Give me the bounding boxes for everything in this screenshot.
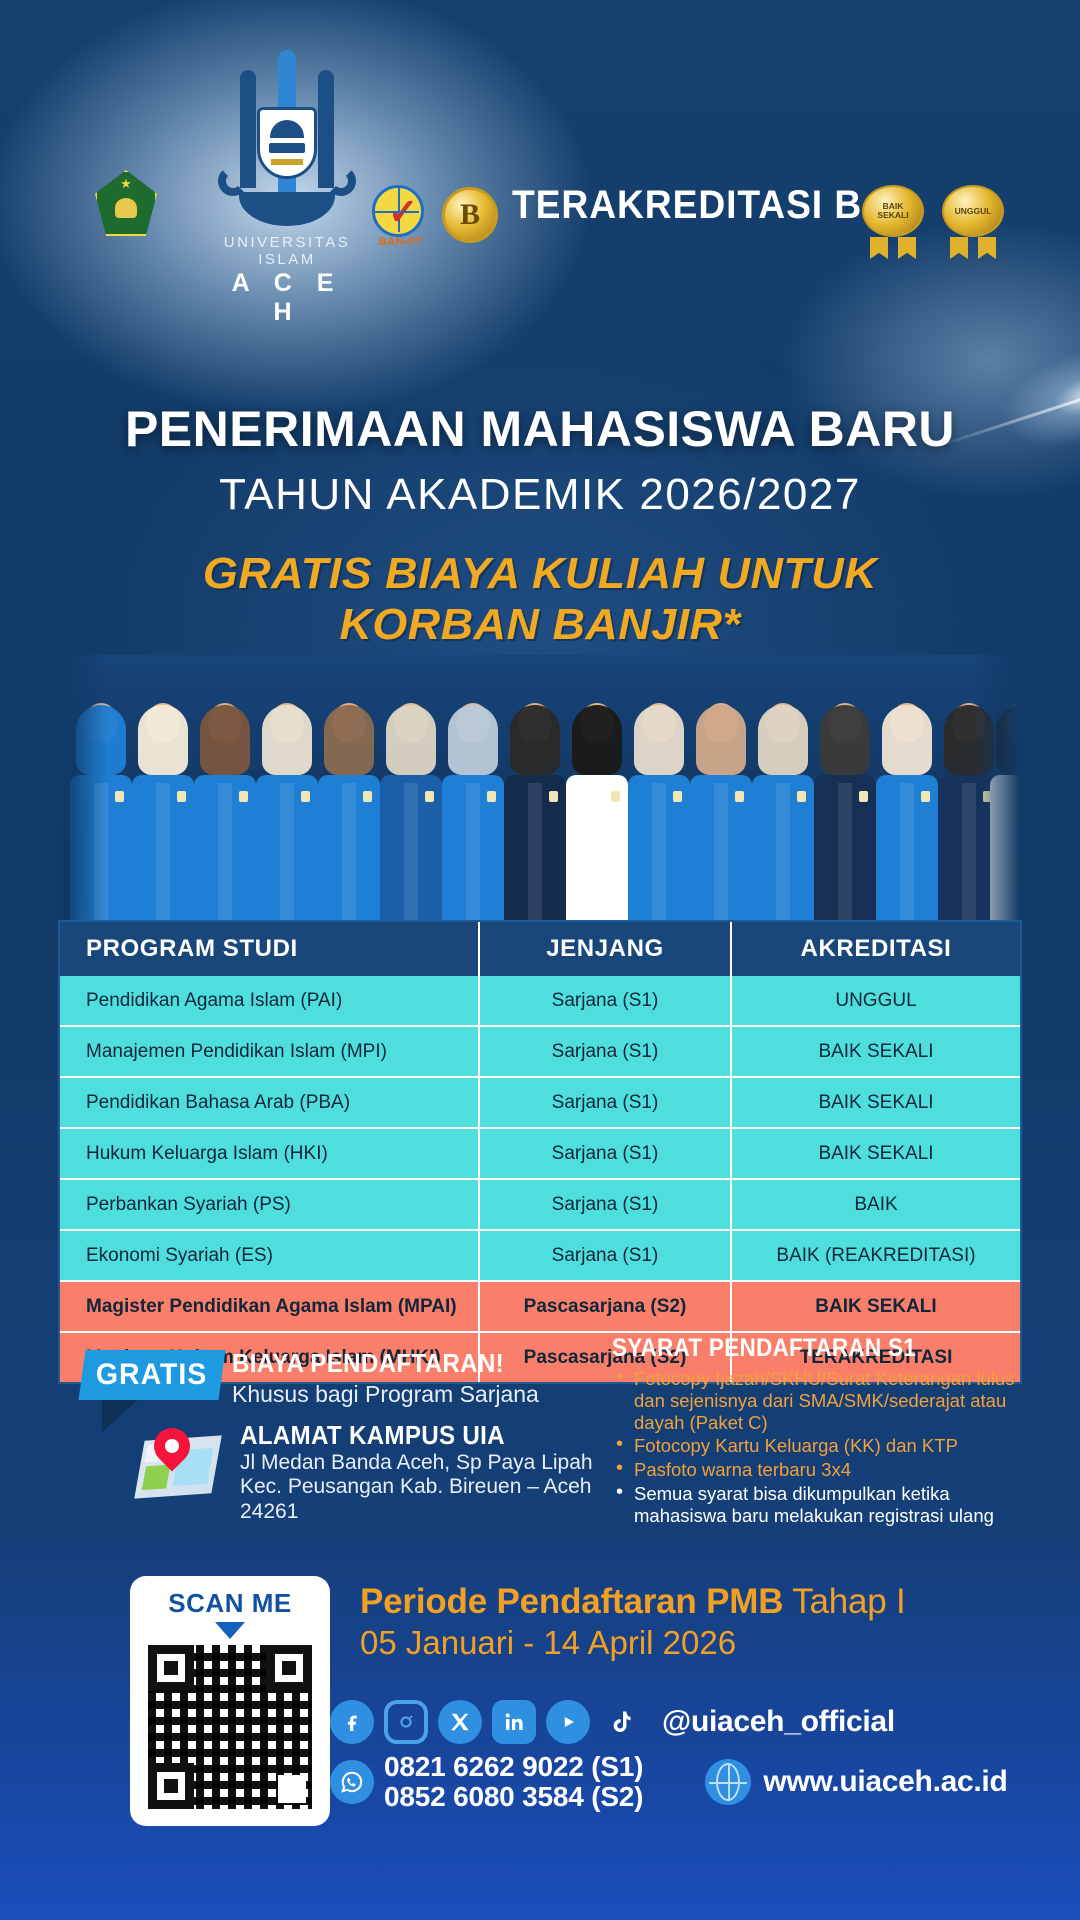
cell-akreditasi: UNGGUL bbox=[732, 976, 1020, 1025]
university-short-name: A C E H bbox=[212, 269, 362, 327]
map-pin-icon bbox=[140, 1438, 216, 1496]
table-row: Manajemen Pendidikan Islam (MPI)Sarjana … bbox=[60, 1027, 1020, 1078]
periode-tahap: Tahap I bbox=[783, 1582, 905, 1621]
globe-icon bbox=[705, 1759, 751, 1805]
cell-program: Pendidikan Agama Islam (PAI) bbox=[60, 976, 480, 1025]
requirements-title: SYARAT PENDAFTARAN S1 bbox=[612, 1334, 999, 1363]
promo-line-1: GRATIS BIAYA KULIAH UNTUK bbox=[0, 548, 1080, 599]
tiktok-icon[interactable] bbox=[600, 1700, 644, 1744]
requirement-item: Fotocopy Ijazah/SKHU/Surat Keterangan lu… bbox=[612, 1368, 1042, 1433]
student-figure bbox=[752, 703, 814, 925]
gratis-badge: GRATIS bbox=[82, 1350, 222, 1400]
youtube-icon[interactable] bbox=[546, 1700, 590, 1744]
cell-jenjang: Sarjana (S1) bbox=[480, 976, 732, 1025]
table-row: Ekonomi Syariah (ES)Sarjana (S1)BAIK (RE… bbox=[60, 1231, 1020, 1282]
promo-line-2: KORBAN BANJIR* bbox=[0, 599, 1080, 650]
student-figure bbox=[690, 703, 752, 925]
website-row[interactable]: www.uiaceh.ac.id bbox=[705, 1759, 1007, 1805]
cell-program: Manajemen Pendidikan Islam (MPI) bbox=[60, 1027, 480, 1076]
program-studi-table: PROGRAM STUDI JENJANG AKREDITASI Pendidi… bbox=[58, 920, 1022, 1384]
address-line-3: 24261 bbox=[240, 1500, 593, 1524]
instagram-icon[interactable] bbox=[384, 1700, 428, 1744]
student-figure bbox=[380, 703, 442, 925]
cell-jenjang: Sarjana (S1) bbox=[480, 1129, 732, 1178]
accreditation-headline: TERAKREDITASI B bbox=[512, 183, 862, 228]
linkedin-icon[interactable] bbox=[492, 1700, 536, 1744]
cell-akreditasi: BAIK SEKALI bbox=[732, 1078, 1020, 1127]
cell-akreditasi: BAIK SEKALI bbox=[732, 1129, 1020, 1178]
x-twitter-icon[interactable] bbox=[438, 1700, 482, 1744]
registration-period-block: Periode Pendaftaran PMB Tahap I 05 Janua… bbox=[360, 1582, 906, 1662]
triangle-down-icon bbox=[215, 1622, 245, 1639]
uia-logo-icon: UNIVERSITAS ISLAM A C E H bbox=[212, 65, 362, 327]
requirements-block: SYARAT PENDAFTARAN S1 Fotocopy Ijazah/SK… bbox=[612, 1334, 1042, 1529]
facebook-icon[interactable] bbox=[330, 1700, 374, 1744]
page-title: PENERIMAAN MAHASISWA BARU bbox=[0, 400, 1080, 458]
contact-block: @uiaceh_official 0821 6262 9022 (S1) 085… bbox=[330, 1700, 1007, 1812]
cell-jenjang: Sarjana (S1) bbox=[480, 1027, 732, 1076]
student-figure bbox=[566, 703, 628, 925]
campus-address-block: ALAMAT KAMPUS UIA Jl Medan Banda Aceh, S… bbox=[130, 1420, 593, 1524]
requirement-item: Pasfoto warna terbaru 3x4 bbox=[612, 1459, 1042, 1481]
cell-jenjang: Pascasarjana (S2) bbox=[480, 1282, 732, 1331]
qr-code-card[interactable]: SCAN ME bbox=[130, 1576, 330, 1826]
banpt-label: BAN-PT bbox=[372, 236, 430, 248]
poster-root: UNIVERSITAS ISLAM A C E H ✓ BAN-PT B TER… bbox=[0, 0, 1080, 1920]
cell-akreditasi: BAIK SEKALI bbox=[732, 1282, 1020, 1331]
table-header-row: PROGRAM STUDI JENJANG AKREDITASI bbox=[60, 922, 1020, 976]
table-row: Hukum Keluarga Islam (HKI)Sarjana (S1)BA… bbox=[60, 1129, 1020, 1180]
table-row: Pendidikan Bahasa Arab (PBA)Sarjana (S1)… bbox=[60, 1078, 1020, 1129]
gratis-note: Khusus bagi Program Sarjana bbox=[232, 1381, 539, 1408]
cell-program: Hukum Keluarga Islam (HKI) bbox=[60, 1129, 480, 1178]
banpt-logo-icon: ✓ BAN-PT bbox=[372, 185, 430, 247]
gratis-text-block: BIAYA PENDAFTARAN! Khusus bagi Program S… bbox=[232, 1348, 539, 1408]
table-row: Perbankan Syariah (PS)Sarjana (S1)BAIK bbox=[60, 1180, 1020, 1231]
address-line-1: Jl Medan Banda Aceh, Sp Paya Lipah bbox=[240, 1451, 593, 1475]
student-figure bbox=[70, 703, 132, 925]
uia-emblem-icon bbox=[212, 65, 362, 240]
cell-jenjang: Sarjana (S1) bbox=[480, 1231, 732, 1280]
student-figure bbox=[876, 703, 938, 925]
cell-akreditasi: BAIK (REAKREDITASI) bbox=[732, 1231, 1020, 1280]
gratis-title: BIAYA PENDAFTARAN! bbox=[232, 1348, 517, 1379]
lens-flare-decoration bbox=[946, 293, 1080, 497]
badge-unggul-label: UNGGUL bbox=[942, 185, 1004, 237]
whatsapp-icon[interactable] bbox=[330, 1760, 374, 1804]
cell-akreditasi: BAIK SEKALI bbox=[732, 1027, 1020, 1076]
student-figure bbox=[628, 703, 690, 925]
badge-baik-sekali-icon: BAIK SEKALI bbox=[862, 185, 932, 247]
badge-baik-sekali-label: BAIK SEKALI bbox=[862, 185, 924, 237]
cell-program: Perbankan Syariah (PS) bbox=[60, 1180, 480, 1229]
student-figure bbox=[442, 703, 504, 925]
cell-jenjang: Sarjana (S1) bbox=[480, 1078, 732, 1127]
scan-me-label: SCAN ME bbox=[130, 1588, 330, 1619]
phone-row: 0821 6262 9022 (S1) 0852 6080 3584 (S2) … bbox=[330, 1752, 1007, 1812]
qr-code-icon[interactable] bbox=[148, 1645, 312, 1809]
address-title: ALAMAT KAMPUS UIA bbox=[240, 1420, 568, 1451]
students-group-photo bbox=[60, 655, 1020, 925]
accreditation-grade-letter: B bbox=[460, 198, 480, 232]
student-figure bbox=[194, 703, 256, 925]
poster-header: UNIVERSITAS ISLAM A C E H ✓ BAN-PT B TER… bbox=[0, 55, 1080, 285]
social-media-row: @uiaceh_official bbox=[330, 1700, 1007, 1744]
periode-label: Periode Pendaftaran PMB bbox=[360, 1582, 783, 1621]
student-figure bbox=[990, 703, 1020, 925]
periode-dates: 05 Januari - 14 April 2026 bbox=[360, 1624, 906, 1662]
badge-unggul-icon: UNGGUL bbox=[942, 185, 1012, 247]
requirements-list: Fotocopy Ijazah/SKHU/Surat Keterangan lu… bbox=[612, 1368, 1042, 1527]
cell-program: Magister Pendidikan Agama Islam (MPAI) bbox=[60, 1282, 480, 1331]
accreditation-grade-coin-icon: B bbox=[442, 187, 498, 243]
kemenag-logo-icon bbox=[95, 170, 157, 236]
gratis-label: GRATIS bbox=[96, 1358, 207, 1392]
requirement-item: Fotocopy Kartu Keluarga (KK) dan KTP bbox=[612, 1435, 1042, 1457]
column-header-program: PROGRAM STUDI bbox=[60, 922, 480, 976]
promo-banner: GRATIS BIAYA KULIAH UNTUK KORBAN BANJIR* bbox=[0, 548, 1080, 650]
phone-s1[interactable]: 0821 6262 9022 (S1) bbox=[384, 1752, 643, 1782]
cell-jenjang: Sarjana (S1) bbox=[480, 1180, 732, 1229]
cell-akreditasi: BAIK bbox=[732, 1180, 1020, 1229]
phone-s2[interactable]: 0852 6080 3584 (S2) bbox=[384, 1782, 643, 1812]
student-figure bbox=[814, 703, 876, 925]
table-row: Pendidikan Agama Islam (PAI)Sarjana (S1)… bbox=[60, 976, 1020, 1027]
column-header-jenjang: JENJANG bbox=[480, 922, 732, 976]
student-figure bbox=[256, 703, 318, 925]
student-figure bbox=[504, 703, 566, 925]
student-figure bbox=[132, 703, 194, 925]
cell-program: Ekonomi Syariah (ES) bbox=[60, 1231, 480, 1280]
student-figure bbox=[318, 703, 380, 925]
table-row: Magister Pendidikan Agama Islam (MPAI)Pa… bbox=[60, 1282, 1020, 1333]
social-handle[interactable]: @uiaceh_official bbox=[662, 1705, 895, 1739]
website-url[interactable]: www.uiaceh.ac.id bbox=[763, 1765, 1007, 1799]
requirement-item: Semua syarat bisa dikumpulkan ketika mah… bbox=[612, 1483, 1042, 1527]
column-header-akreditasi: AKREDITASI bbox=[732, 922, 1020, 976]
cell-program: Pendidikan Bahasa Arab (PBA) bbox=[60, 1078, 480, 1127]
page-subtitle: TAHUN AKADEMIK 2026/2027 bbox=[0, 470, 1080, 520]
address-line-2: Kec. Peusangan Kab. Bireuen – Aceh bbox=[240, 1475, 593, 1499]
